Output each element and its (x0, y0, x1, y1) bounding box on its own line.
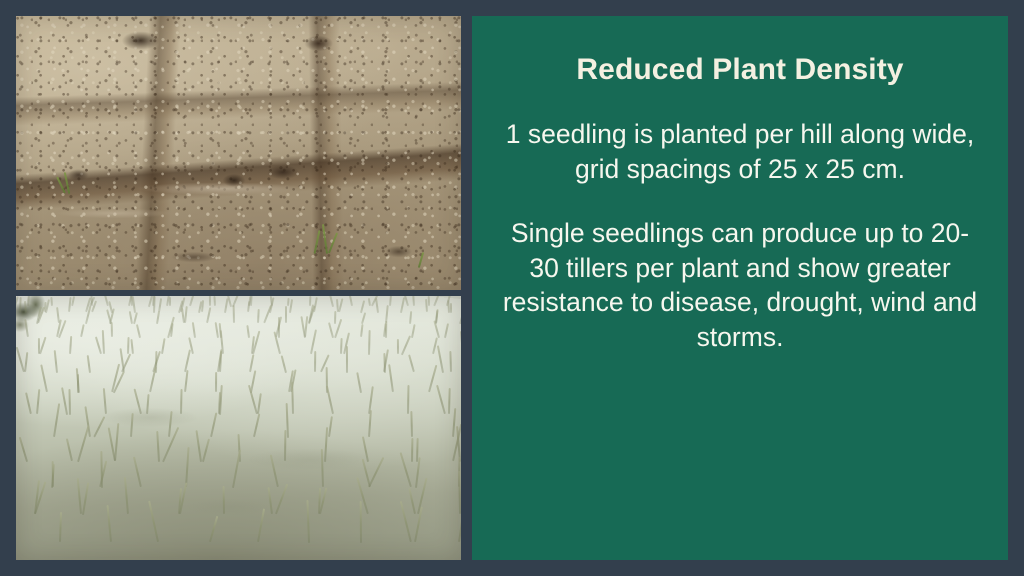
soil-texture (16, 16, 461, 290)
slide: Reduced Plant Density 1 seedling is plan… (0, 0, 1024, 576)
seedling-blade (100, 450, 102, 487)
seedling-blade (334, 311, 336, 324)
seedling-blade (383, 353, 385, 373)
seedling-blade (213, 296, 215, 306)
paragraph-spacer (498, 186, 982, 216)
seedling-blade (51, 461, 53, 487)
seedling-blade (309, 296, 311, 306)
seedling-blade (19, 297, 21, 313)
seedling-blade (110, 322, 112, 337)
flooded-water-surface (16, 296, 461, 560)
panel-title: Reduced Plant Density (498, 52, 982, 87)
panel-paragraph-2: Single seedlings can produce up to 20-30… (498, 216, 982, 354)
seedling-blade (24, 300, 27, 312)
seedling-blade (232, 305, 234, 323)
seedling-blade (180, 389, 182, 414)
flooded-paddy-seedlings-photo (16, 296, 461, 560)
paddy-soil-grid-photo (16, 16, 461, 290)
seedling-blade (285, 306, 287, 324)
panel-paragraph-1: 1 seedling is planted per hill along wid… (498, 117, 982, 186)
text-panel: Reduced Plant Density 1 seedling is plan… (472, 16, 1008, 560)
seedling-blade (450, 303, 452, 313)
seedling-blade (359, 500, 361, 542)
seedling-blade (169, 297, 171, 306)
seedling-blade (340, 338, 342, 354)
seedling-blade (411, 438, 413, 462)
seedling-blade (209, 296, 211, 306)
seedling-blade (407, 385, 409, 414)
seedling-blade (284, 430, 286, 461)
seedling-blade (449, 351, 451, 372)
seedling-blade (346, 346, 348, 373)
